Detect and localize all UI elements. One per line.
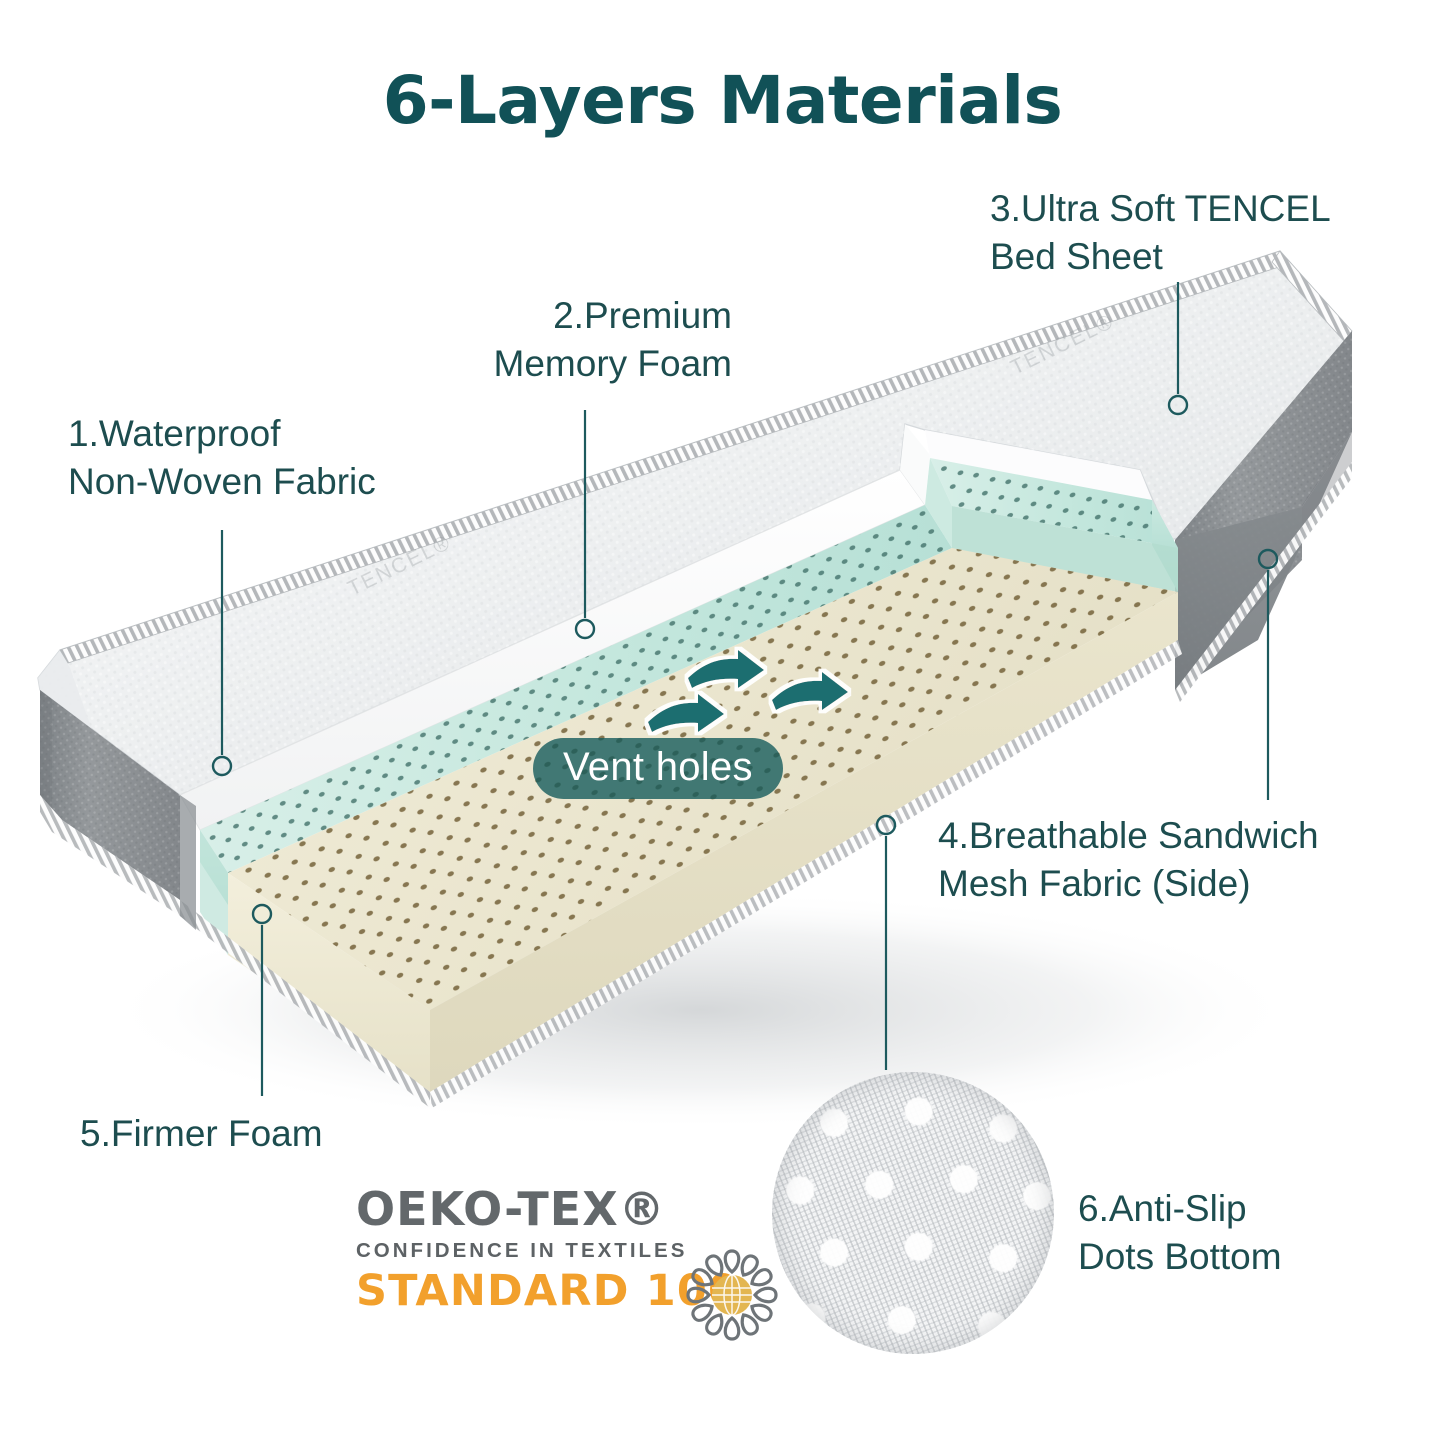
- infographic-root: 6-Layers Materials: [0, 0, 1445, 1445]
- anti-slip-dots-photo-inset: [772, 1072, 1054, 1354]
- oekotex-flower-icon: [678, 1241, 786, 1349]
- callout-label-ultra-soft-tencel-bed-sheet: 3.Ultra Soft TENCEL Bed Sheet: [990, 185, 1390, 281]
- vent-holes-badge: Vent holes: [533, 738, 783, 799]
- callout-label-waterproof-non-woven-fabric: 1.Waterproof Non-Woven Fabric: [68, 410, 488, 506]
- oeko-tex-wordmark: OEKO-TEX®: [356, 1186, 776, 1232]
- callout-label-anti-slip-dots-bottom: 6.Anti-Slip Dots Bottom: [1078, 1185, 1378, 1281]
- callout-label-breathable-sandwich-mesh-fabric: 4.Breathable Sandwich Mesh Fabric (Side): [938, 812, 1388, 908]
- oeko-tex-certification: OEKO-TEX® CONFIDENCE IN TEXTILES STANDAR…: [356, 1186, 776, 1313]
- mesh-strip-left-lower: [180, 795, 196, 930]
- mesh-corner-left-round: [40, 690, 52, 812]
- callout-label-premium-memory-foam: 2.Premium Memory Foam: [432, 292, 732, 388]
- callout-label-firmer-foam: 5.Firmer Foam: [80, 1110, 410, 1158]
